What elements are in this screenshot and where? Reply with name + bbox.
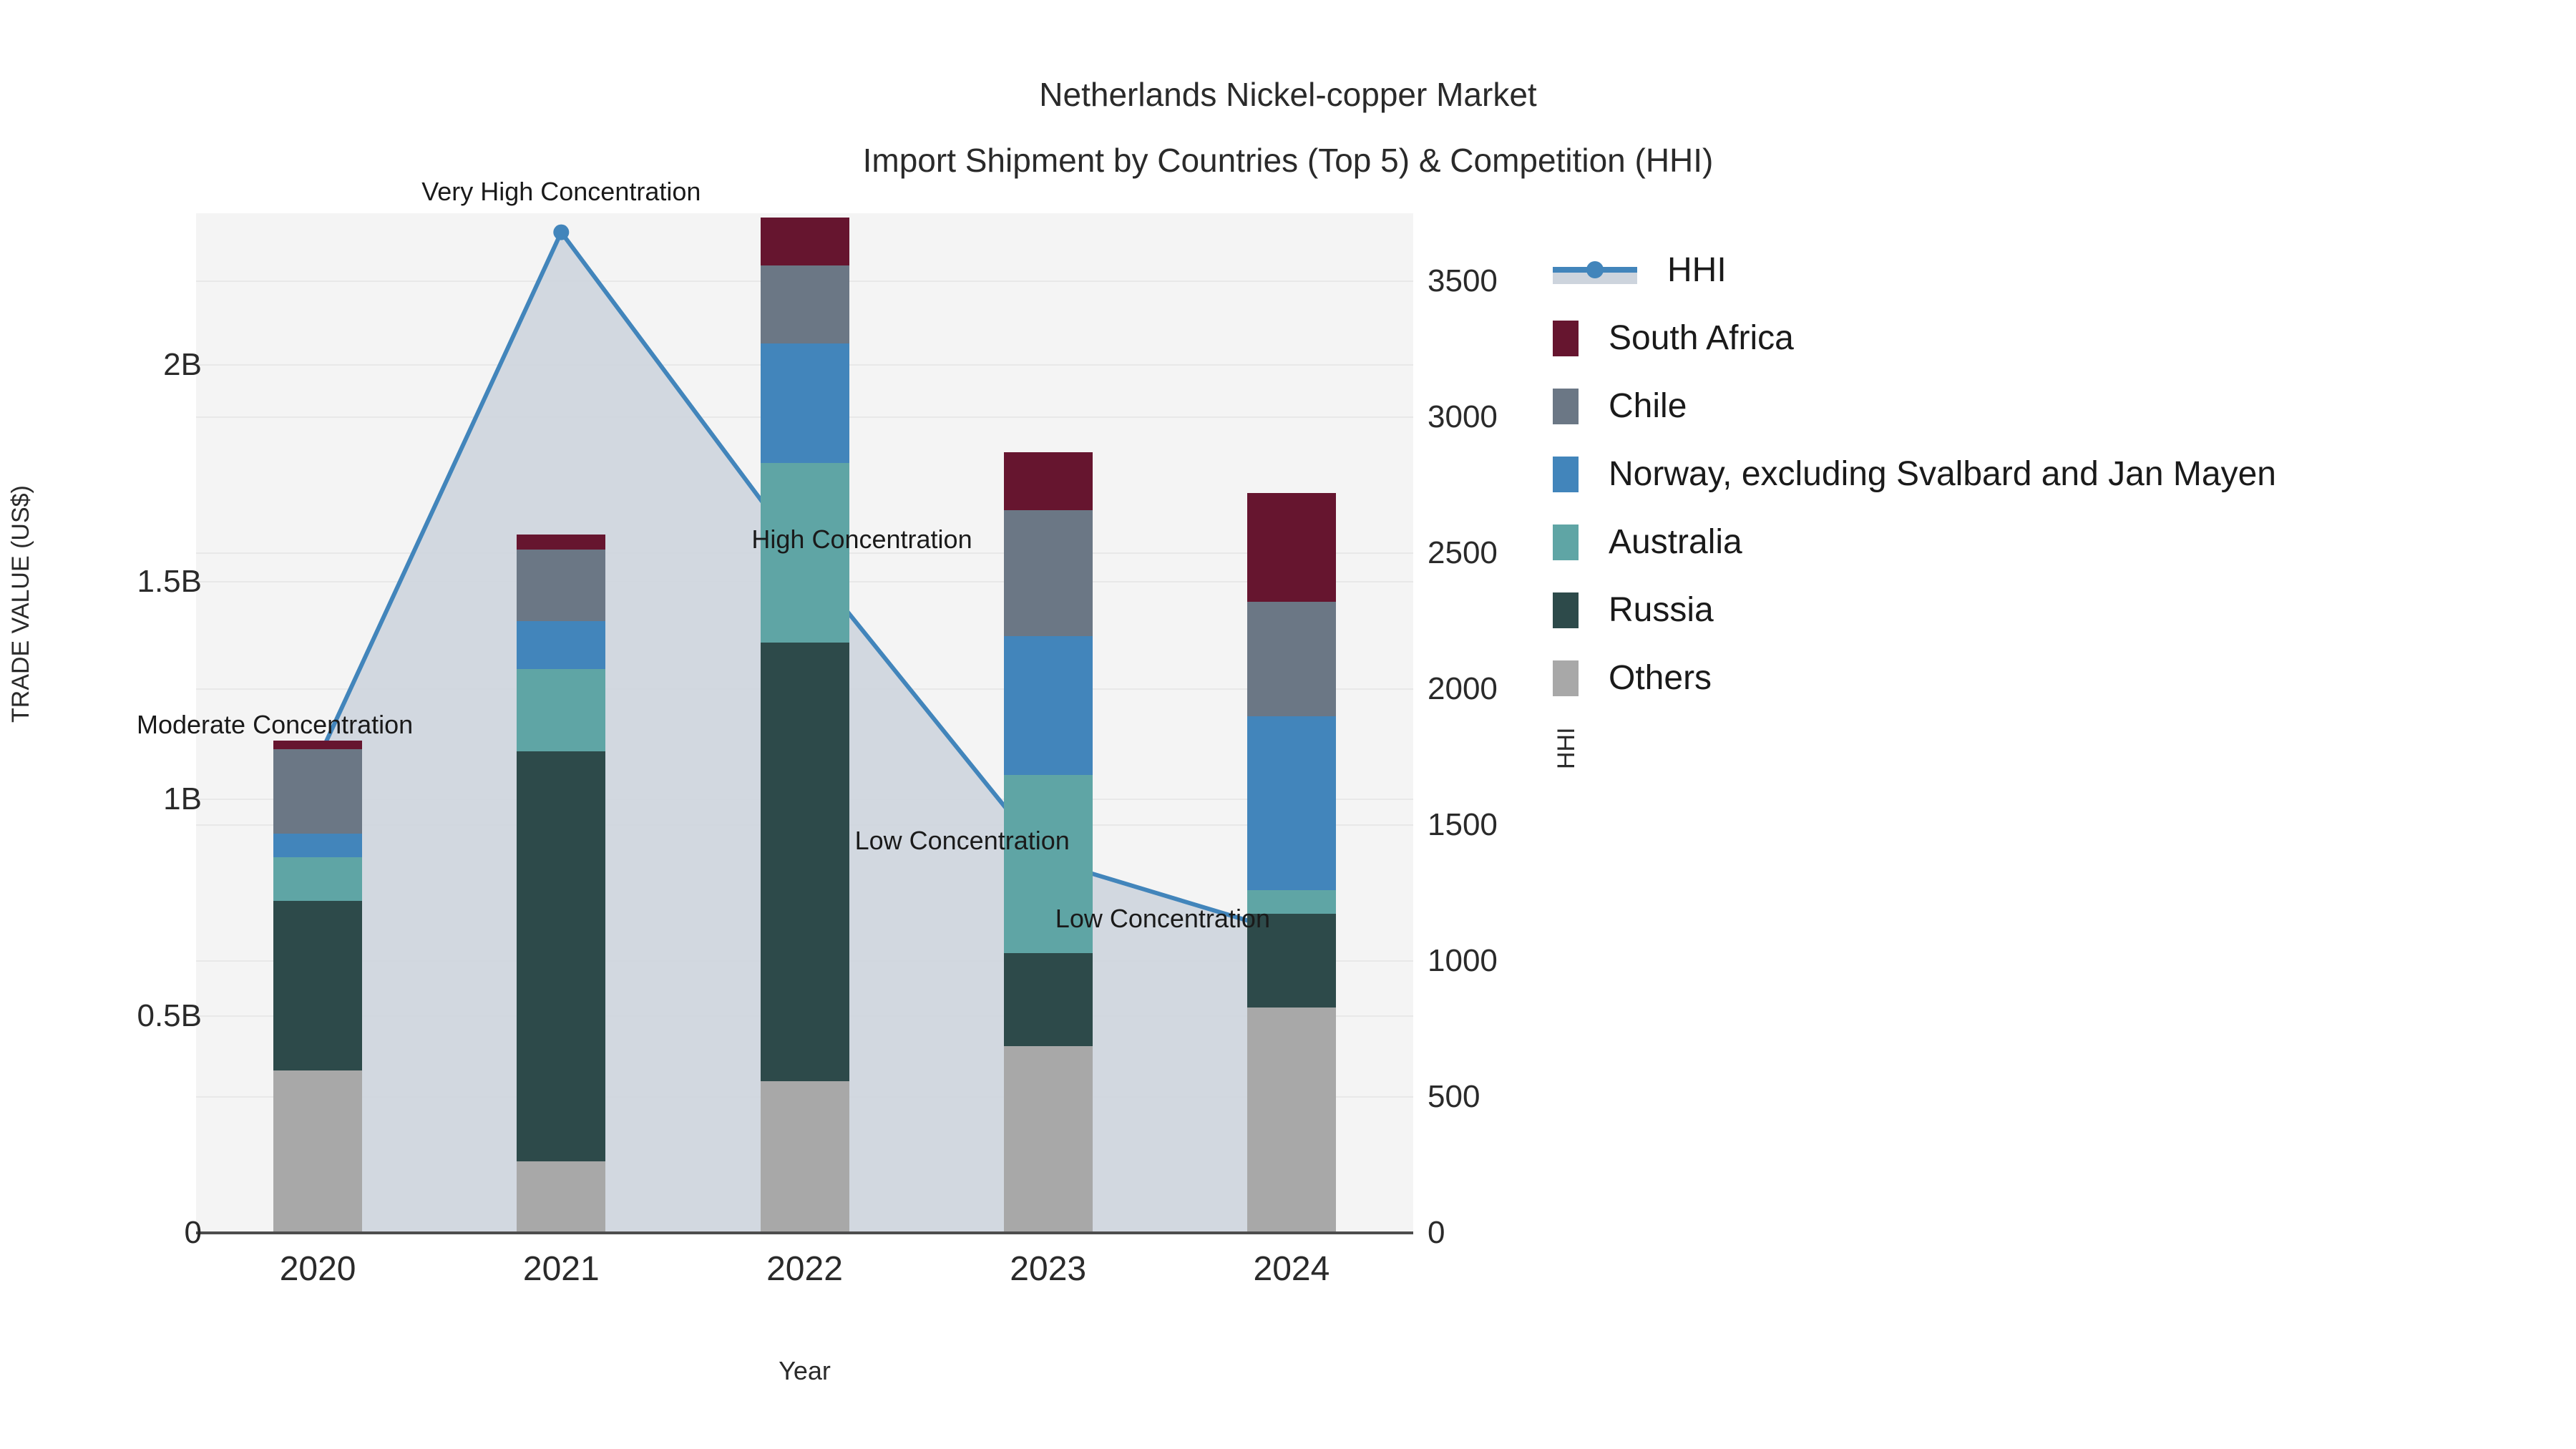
bar-group — [1004, 213, 1093, 1233]
bar-segment[interactable] — [761, 218, 849, 265]
legend-item-label: South Africa — [1609, 321, 1794, 356]
y-axis-tick-left: 1.5B — [137, 564, 202, 600]
legend-color-swatch — [1553, 457, 1579, 492]
bar-segment[interactable] — [1004, 1046, 1093, 1233]
legend-item[interactable]: Russia — [1553, 576, 2555, 644]
legend-item-label: Russia — [1609, 593, 1714, 628]
y-axis-tick-right: 0 — [1428, 1215, 1445, 1251]
bar-segment[interactable] — [273, 834, 362, 857]
legend-item-label: Chile — [1609, 389, 1687, 424]
bar-group — [1247, 213, 1336, 1233]
x-axis-line — [196, 1231, 1413, 1234]
bar-segment[interactable] — [1004, 953, 1093, 1046]
bar-segment[interactable] — [273, 901, 362, 1070]
y-axis-tick-right: 2500 — [1428, 535, 1498, 571]
bar-segment[interactable] — [273, 749, 362, 834]
legend-item-hhi[interactable]: HHI — [1553, 236, 2555, 304]
bar-segment[interactable] — [761, 643, 849, 1080]
bar-segment[interactable] — [1247, 716, 1336, 890]
legend-color-swatch — [1553, 660, 1579, 696]
y-axis-tick-left: 0 — [185, 1215, 202, 1251]
legend-item-label: Norway, excluding Svalbard and Jan Mayen — [1609, 457, 2276, 492]
y-axis-tick-left: 1B — [163, 781, 202, 817]
bar-segment[interactable] — [761, 265, 849, 343]
legend-item-label: Others — [1609, 661, 1712, 696]
bar-segment[interactable] — [761, 343, 849, 463]
y-axis-tick-right: 3500 — [1428, 263, 1498, 299]
title-line-1: Netherlands Nickel-copper Market — [0, 62, 2576, 127]
y-axis-tick-left: 0.5B — [137, 998, 202, 1034]
hhi-annotation-label: Moderate Concentration — [137, 710, 413, 740]
bar-segment[interactable] — [1247, 493, 1336, 602]
bar-segment[interactable] — [273, 741, 362, 749]
legend-color-swatch — [1553, 389, 1579, 424]
bar-segment[interactable] — [517, 1161, 605, 1233]
chart-figure: Netherlands Nickel-copper Market Import … — [0, 0, 2576, 1449]
bar-segment[interactable] — [273, 857, 362, 901]
bar-segment[interactable] — [517, 550, 605, 621]
y-axis-title-right: HHI — [1553, 727, 1581, 769]
bar-segment[interactable] — [761, 1081, 849, 1233]
bar-segment[interactable] — [1247, 602, 1336, 717]
legend-color-swatch — [1553, 525, 1579, 560]
x-axis-tick: 2024 — [1184, 1249, 1399, 1289]
bar-group — [517, 213, 605, 1233]
x-axis-title: Year — [196, 1356, 1413, 1386]
legend: HHI South AfricaChileNorway, excluding S… — [1553, 236, 2555, 712]
y-axis-tick-right: 500 — [1428, 1079, 1480, 1115]
y-axis-title-left: TRADE VALUE (US$) — [7, 485, 35, 723]
legend-color-swatch — [1553, 321, 1579, 356]
hhi-annotation-label: High Concentration — [751, 525, 972, 555]
bar-segment[interactable] — [517, 621, 605, 669]
legend-color-swatch — [1553, 592, 1579, 628]
legend-item[interactable]: Norway, excluding Svalbard and Jan Mayen — [1553, 440, 2555, 508]
legend-items: South AfricaChileNorway, excluding Svalb… — [1553, 304, 2555, 712]
hhi-annotation-label: Low Concentration — [855, 826, 1070, 856]
bar-segment[interactable] — [1004, 636, 1093, 775]
page-title: Netherlands Nickel-copper Market Import … — [0, 62, 2576, 193]
hhi-annotation-label: Very High Concentration — [421, 177, 701, 207]
y-axis-tick-right: 3000 — [1428, 399, 1498, 435]
x-axis-tick: 2023 — [941, 1249, 1156, 1289]
x-axis-tick: 2022 — [698, 1249, 912, 1289]
bar-segment[interactable] — [517, 669, 605, 751]
bar-group — [761, 213, 849, 1233]
bar-segment[interactable] — [517, 751, 605, 1161]
x-axis-tick: 2020 — [210, 1249, 425, 1289]
x-axis-tick: 2021 — [454, 1249, 668, 1289]
bar-segment[interactable] — [273, 1070, 362, 1233]
y-axis-tick-right: 2000 — [1428, 671, 1498, 707]
legend-item[interactable]: Australia — [1553, 508, 2555, 576]
hhi-annotation-label: Low Concentration — [1055, 904, 1270, 934]
bar-segment[interactable] — [1247, 1008, 1336, 1233]
bar-segment[interactable] — [517, 535, 605, 550]
y-axis-tick-left: 2B — [163, 347, 202, 383]
title-line-2: Import Shipment by Countries (Top 5) & C… — [0, 127, 2576, 193]
y-axis-tick-right: 1000 — [1428, 943, 1498, 979]
legend-item[interactable]: Others — [1553, 644, 2555, 712]
hhi-line-marker-icon — [1553, 253, 1637, 288]
legend-label-hhi: HHI — [1667, 253, 1727, 288]
legend-item-label: Australia — [1609, 525, 1742, 560]
legend-item[interactable]: South Africa — [1553, 304, 2555, 372]
bar-segment[interactable] — [1004, 510, 1093, 636]
bar-segment[interactable] — [1004, 452, 1093, 511]
legend-item[interactable]: Chile — [1553, 372, 2555, 440]
y-axis-tick-right: 1500 — [1428, 807, 1498, 843]
